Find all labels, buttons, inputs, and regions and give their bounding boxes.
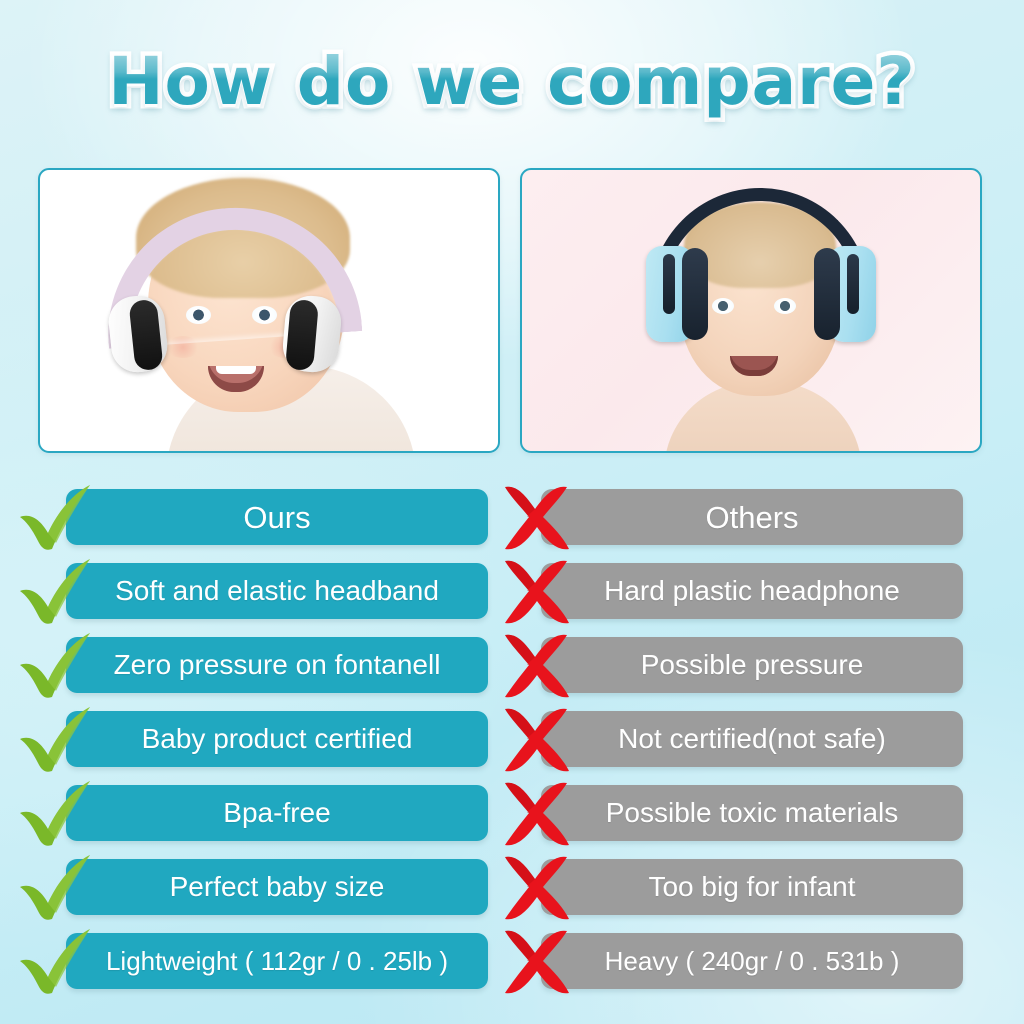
others-pill: Heavy ( 240gr / 0 . 531b ) bbox=[541, 933, 963, 989]
others-label: Not certified(not safe) bbox=[612, 725, 892, 753]
others-label: Heavy ( 240gr / 0 . 531b ) bbox=[599, 948, 906, 974]
others-cell: Hard plastic headphone bbox=[541, 563, 963, 619]
ours-photo-scene bbox=[40, 170, 498, 451]
ear-cushion-left bbox=[682, 248, 708, 340]
others-cell: Possible pressure bbox=[541, 637, 963, 693]
others-pill: Possible pressure bbox=[541, 637, 963, 693]
page-title-text: How do we compare? bbox=[108, 49, 915, 115]
others-header-label: Others bbox=[699, 502, 804, 533]
others-header-pill: Others bbox=[541, 489, 963, 545]
others-pill: Not certified(not safe) bbox=[541, 711, 963, 767]
comparison-header-row: Ours Others bbox=[0, 489, 1024, 563]
comparison-row: Lightweight ( 112gr / 0 . 25lb ) Heavy (… bbox=[0, 933, 1024, 1007]
ear-cup-slider-right bbox=[847, 254, 859, 314]
ours-cell: Soft and elastic headband bbox=[66, 563, 488, 619]
others-label: Hard plastic headphone bbox=[598, 577, 906, 605]
ours-pill: Zero pressure on fontanell bbox=[66, 637, 488, 693]
ours-cell: Bpa-free bbox=[66, 785, 488, 841]
ours-cell: Perfect baby size bbox=[66, 859, 488, 915]
comparison-row: Baby product certified Not certified(not… bbox=[0, 711, 1024, 785]
ours-header-pill: Ours bbox=[66, 489, 488, 545]
ours-pill: Perfect baby size bbox=[66, 859, 488, 915]
ear-cup-slider-left bbox=[663, 254, 675, 314]
others-product-photo bbox=[520, 168, 982, 453]
page-title: How do we compare? How do we compare? bbox=[0, 34, 1024, 130]
others-cell: Too big for infant bbox=[541, 859, 963, 915]
others-cell: Heavy ( 240gr / 0 . 531b ) bbox=[541, 933, 963, 989]
ours-label: Zero pressure on fontanell bbox=[108, 651, 447, 679]
comparison-row: Zero pressure on fontanell Possible pres… bbox=[0, 637, 1024, 711]
comparison-row: Perfect baby size Too big for infant bbox=[0, 859, 1024, 933]
ours-header-label: Ours bbox=[237, 502, 316, 533]
ours-pill: Baby product certified bbox=[66, 711, 488, 767]
others-pill: Too big for infant bbox=[541, 859, 963, 915]
others-pill: Hard plastic headphone bbox=[541, 563, 963, 619]
others-pill: Possible toxic materials bbox=[541, 785, 963, 841]
comparison-poster: How do we compare? How do we compare? bbox=[0, 0, 1024, 1024]
others-photo-scene bbox=[522, 170, 980, 451]
others-label: Too big for infant bbox=[642, 873, 861, 901]
ours-header-cell: Ours bbox=[66, 489, 488, 545]
ours-cell: Lightweight ( 112gr / 0 . 25lb ) bbox=[66, 933, 488, 989]
others-cell: Not certified(not safe) bbox=[541, 711, 963, 767]
others-cell: Possible toxic materials bbox=[541, 785, 963, 841]
ours-product-photo bbox=[38, 168, 500, 453]
comparison-table: Ours Others bbox=[0, 489, 1024, 1007]
ours-label: Perfect baby size bbox=[164, 873, 391, 901]
ours-label: Bpa-free bbox=[217, 799, 336, 827]
ours-label: Lightweight ( 112gr / 0 . 25lb ) bbox=[100, 948, 454, 974]
ours-label: Soft and elastic headband bbox=[109, 577, 445, 605]
others-header-cell: Others bbox=[541, 489, 963, 545]
ours-pill: Soft and elastic headband bbox=[66, 563, 488, 619]
ear-cushion-right bbox=[814, 248, 840, 340]
others-label: Possible pressure bbox=[635, 651, 870, 679]
ours-cell: Baby product certified bbox=[66, 711, 488, 767]
ours-cell: Zero pressure on fontanell bbox=[66, 637, 488, 693]
others-label: Possible toxic materials bbox=[600, 799, 905, 827]
ours-pill: Lightweight ( 112gr / 0 . 25lb ) bbox=[66, 933, 488, 989]
comparison-row: Bpa-free Possible toxic materials bbox=[0, 785, 1024, 859]
comparison-row: Soft and elastic headband Hard plastic h… bbox=[0, 563, 1024, 637]
ours-pill: Bpa-free bbox=[66, 785, 488, 841]
ours-label: Baby product certified bbox=[136, 725, 419, 753]
